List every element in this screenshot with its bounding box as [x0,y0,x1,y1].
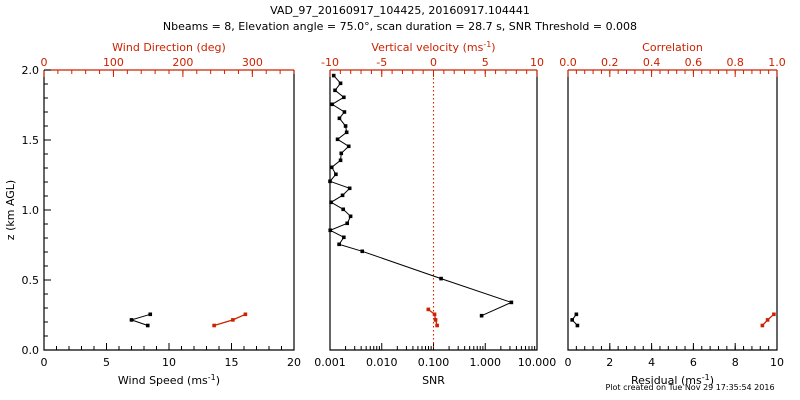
panel-2-xticklabel-0: 0.001 [314,356,346,369]
panel-2-datapoint [348,187,352,191]
panel-1-xticklabel-4: 20 [287,356,301,369]
panel-3-datapoint [575,313,579,317]
panel-2-datapoint [328,180,332,184]
panel-1-datapoint [148,313,152,317]
panel-2-datapoint [339,159,343,163]
panel-3-xticklabel-4: 8 [732,356,739,369]
panel-2-datapoint [333,89,337,93]
panel-3-datapoint [766,318,770,322]
panel-1-xticklabel-top-2: 200 [172,56,193,69]
panel-2-datapoint [339,82,343,86]
panel-2-datapoint [435,324,439,328]
figure-title-line1: VAD_97_20160917_104425, 20160917.104441 [270,4,530,17]
panel-2-xticklabel-2: 0.100 [418,356,450,369]
panel-1-xticklabel-3: 15 [225,356,239,369]
panel-3-xticklabel-0: 0 [565,356,572,369]
panel-2-xaxis-label: SNR [422,374,445,387]
panel-2-datapoint [330,103,334,107]
panel-2-datapoint [427,308,431,312]
panel-2-datapoint [343,110,347,114]
panel-2-top-axis-label: Vertical velocity (ms-1) [371,40,495,54]
panel-2-datapoint [480,314,484,318]
y-axis-label: z (km AGL) [4,180,17,240]
panel-2-datapoint [337,243,341,247]
panel-3-frame [568,70,777,350]
panel-1-datapoint [130,318,134,322]
panel-3-datapoint [761,324,765,328]
panel-2-datapoint [347,145,351,149]
panel-2-datapoint [329,201,333,205]
y-ticklabel-3: 1.5 [22,134,40,147]
panel-1-xaxis-label: Wind Speed (ms-1) [118,373,220,387]
panel-2-datapoint [339,152,343,156]
panel-2-datapoint [344,124,348,128]
panel-1-xticklabel-top-1: 100 [103,56,124,69]
panel-2-xticklabel-3: 1.000 [470,356,502,369]
panel-3-xticklabel-top-0: 0.0 [559,56,577,69]
panel-2-datapoint [338,117,342,121]
y-ticklabel-1: 0.5 [22,274,40,287]
panel-3-top-axis-label: Correlation [642,41,703,54]
panel-2-datapoint [439,277,443,281]
panel-3-xticklabel-top-3: 0.6 [685,56,703,69]
panel-2-xticklabel-top-3: 5 [482,56,489,69]
figure-title-line2: Nbeams = 8, Elevation angle = 75.0°, sca… [163,20,637,33]
y-ticklabel-2: 1.0 [22,204,40,217]
panel-1-frame [44,70,294,350]
panel-1-xticklabel-0: 0 [41,356,48,369]
panel-2-datapoint [345,222,349,226]
panel-2-datapoint [434,318,438,322]
panel-3-xticklabel-top-4: 0.8 [726,56,744,69]
panel-3-xticklabel-top-2: 0.4 [643,56,661,69]
panel-2-xticklabel-top-1: -5 [376,56,387,69]
panel-2-datapoint [349,215,353,219]
panel-3-xticklabel-2: 4 [648,356,655,369]
panel-2-datapoint [341,208,345,212]
panel-2-series-vertical-velocity-line [428,309,437,325]
panel-2-datapoint [341,194,345,198]
panel-2-datapoint [360,250,364,254]
panel-3-datapoint [576,324,580,328]
panel-2-datapoint [332,74,336,78]
y-ticklabel-4: 2.0 [22,64,40,77]
panel-3-xticklabel-top-5: 1.0 [768,56,786,69]
panel-1-xticklabel-1: 5 [103,356,110,369]
panel-2-datapoint [330,166,334,170]
panel-3-xaxis-label: Residual (ms-1) [631,373,714,387]
figure-canvas: VAD_97_20160917_104425, 20160917.104441N… [0,0,800,400]
panel-2-datapoint [336,138,340,142]
panel-1-xticklabel-2: 10 [162,356,176,369]
panel-2-datapoint [342,96,346,100]
panel-1-datapoint [212,324,216,328]
panel-2-xticklabel-4: 10.000 [518,356,557,369]
panel-3-xticklabel-top-1: 0.2 [601,56,619,69]
panel-3-xticklabel-3: 6 [690,356,697,369]
panel-2-xticklabel-top-4: 10 [530,56,544,69]
panel-2-datapoint [334,173,338,177]
panel-1-top-axis-label: Wind Direction (deg) [112,41,226,54]
panel-2-xticklabel-1: 0.010 [366,356,398,369]
panel-1-datapoint [231,318,235,322]
panel-2-xticklabel-top-2: 0 [430,56,437,69]
panel-2-datapoint [433,313,437,317]
panel-1-datapoint [244,313,248,317]
panel-3-datapoint [570,318,574,322]
panel-2-datapoint [510,301,514,305]
panel-1-series-wind-direction-line [214,314,245,325]
y-ticklabel-0: 0.0 [22,344,40,357]
panel-2-datapoint [342,236,346,240]
panel-1-xticklabel-top-3: 300 [242,56,263,69]
panel-2-xticklabel-top-0: -10 [321,56,339,69]
panel-1-xticklabel-top-0: 0 [41,56,48,69]
panel-2-datapoint [345,131,349,135]
vad-plot-figure: VAD_97_20160917_104425, 20160917.104441N… [0,0,800,400]
panel-3-xticklabel-1: 2 [606,356,613,369]
panel-1-datapoint [146,324,150,328]
panel-3-datapoint [772,313,776,317]
panel-2-series-snr-line [330,76,511,316]
panel-3-xticklabel-5: 10 [770,356,784,369]
panel-2-datapoint [328,229,332,233]
